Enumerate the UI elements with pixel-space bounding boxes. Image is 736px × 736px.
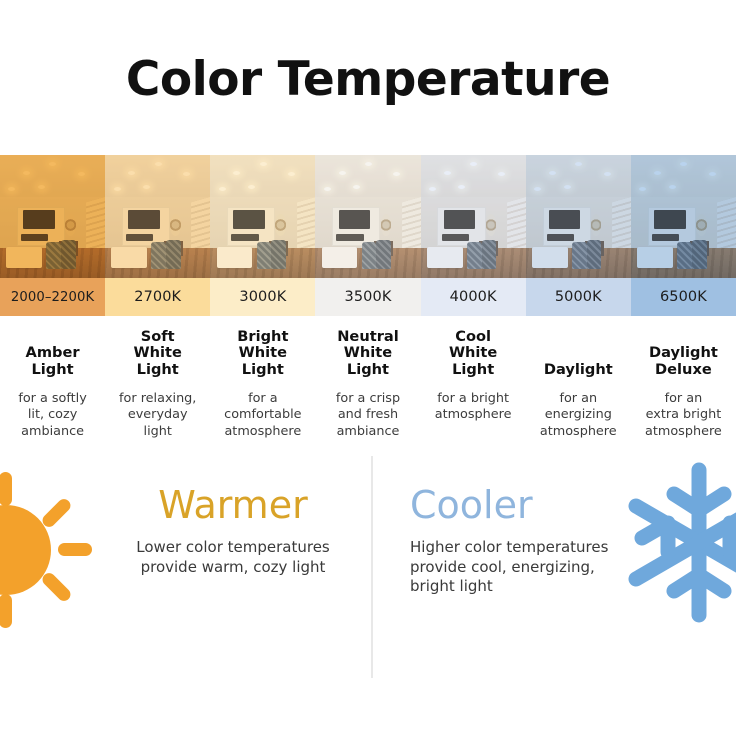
light-description: for a softlylit, cozyambiance bbox=[0, 391, 105, 448]
kelvin-label-20002200K: 2000–2200K bbox=[0, 278, 105, 316]
light-name: SoftWhiteLight bbox=[105, 328, 210, 378]
room-scene bbox=[526, 155, 631, 278]
room-photo-3000K bbox=[210, 155, 315, 278]
warmer-heading: Warmer bbox=[108, 486, 358, 526]
kelvin-label-4000K: 4000K bbox=[421, 278, 526, 316]
room-photo-6500K bbox=[631, 155, 736, 278]
room-scene bbox=[210, 155, 315, 278]
kelvin-label-2700K: 2700K bbox=[105, 278, 210, 316]
light-description-strip: for a softlylit, cozyambiancefor relaxin… bbox=[0, 378, 736, 448]
room-photo-3500K bbox=[315, 155, 420, 278]
kelvin-label-6500K: 6500K bbox=[631, 278, 736, 316]
light-name-text: CoolWhiteLight bbox=[449, 329, 497, 378]
light-name: DaylightDeluxe bbox=[631, 328, 736, 378]
warmer-text-block: Warmer Lower color temperaturesprovide w… bbox=[108, 486, 358, 577]
light-description: for relaxing,everydaylight bbox=[105, 391, 210, 448]
warmer-description: Lower color temperaturesprovide warm, co… bbox=[108, 538, 358, 578]
room-photo-5000K bbox=[526, 155, 631, 278]
room-scene bbox=[421, 155, 526, 278]
room-scene bbox=[315, 155, 420, 278]
kelvin-label-5000K: 5000K bbox=[526, 278, 631, 316]
light-name: AmberLight bbox=[0, 328, 105, 378]
light-description: for anenergizingatmosphere bbox=[526, 391, 631, 448]
light-description: for anextra brightatmosphere bbox=[631, 391, 736, 448]
light-name-strip: AmberLightSoftWhiteLightBrightWhiteLight… bbox=[0, 316, 736, 378]
light-name-text: NeutralWhiteLight bbox=[337, 329, 399, 378]
sun-icon bbox=[0, 470, 104, 630]
light-name: NeutralWhiteLight bbox=[315, 328, 420, 378]
light-name-text: DaylightDeluxe bbox=[649, 345, 718, 378]
kelvin-swatch-strip: 2000–2200K2700K3000K3500K4000K5000K6500K bbox=[0, 278, 736, 316]
light-description: for a crispand freshambiance bbox=[315, 391, 420, 448]
light-name-text: BrightWhiteLight bbox=[237, 329, 288, 378]
light-name: CoolWhiteLight bbox=[421, 328, 526, 378]
room-photo-strip bbox=[0, 155, 736, 278]
light-name-text: SoftWhiteLight bbox=[134, 329, 182, 378]
cooler-panel: Cooler Higher color temperaturesprovide … bbox=[373, 448, 736, 708]
title-band: Color Temperature bbox=[0, 0, 736, 155]
light-name-text: AmberLight bbox=[26, 345, 80, 378]
light-name: Daylight bbox=[526, 328, 631, 378]
light-description: for acomfortableatmosphere bbox=[210, 391, 315, 448]
light-description: for a brightatmosphere bbox=[421, 391, 526, 448]
light-name-text: Daylight bbox=[544, 362, 613, 378]
room-photo-2700K bbox=[105, 155, 210, 278]
snowflake-icon bbox=[624, 460, 736, 625]
room-scene bbox=[0, 155, 105, 278]
kelvin-label-3000K: 3000K bbox=[210, 278, 315, 316]
warm-cool-comparison: Warmer Lower color temperaturesprovide w… bbox=[0, 448, 736, 708]
warmer-panel: Warmer Lower color temperaturesprovide w… bbox=[0, 448, 371, 708]
page-title: Color Temperature bbox=[126, 56, 610, 103]
room-photo-20002200K bbox=[0, 155, 105, 278]
light-name: BrightWhiteLight bbox=[210, 328, 315, 378]
kelvin-label-3500K: 3500K bbox=[315, 278, 420, 316]
room-scene bbox=[105, 155, 210, 278]
room-photo-4000K bbox=[421, 155, 526, 278]
room-scene bbox=[631, 155, 736, 278]
